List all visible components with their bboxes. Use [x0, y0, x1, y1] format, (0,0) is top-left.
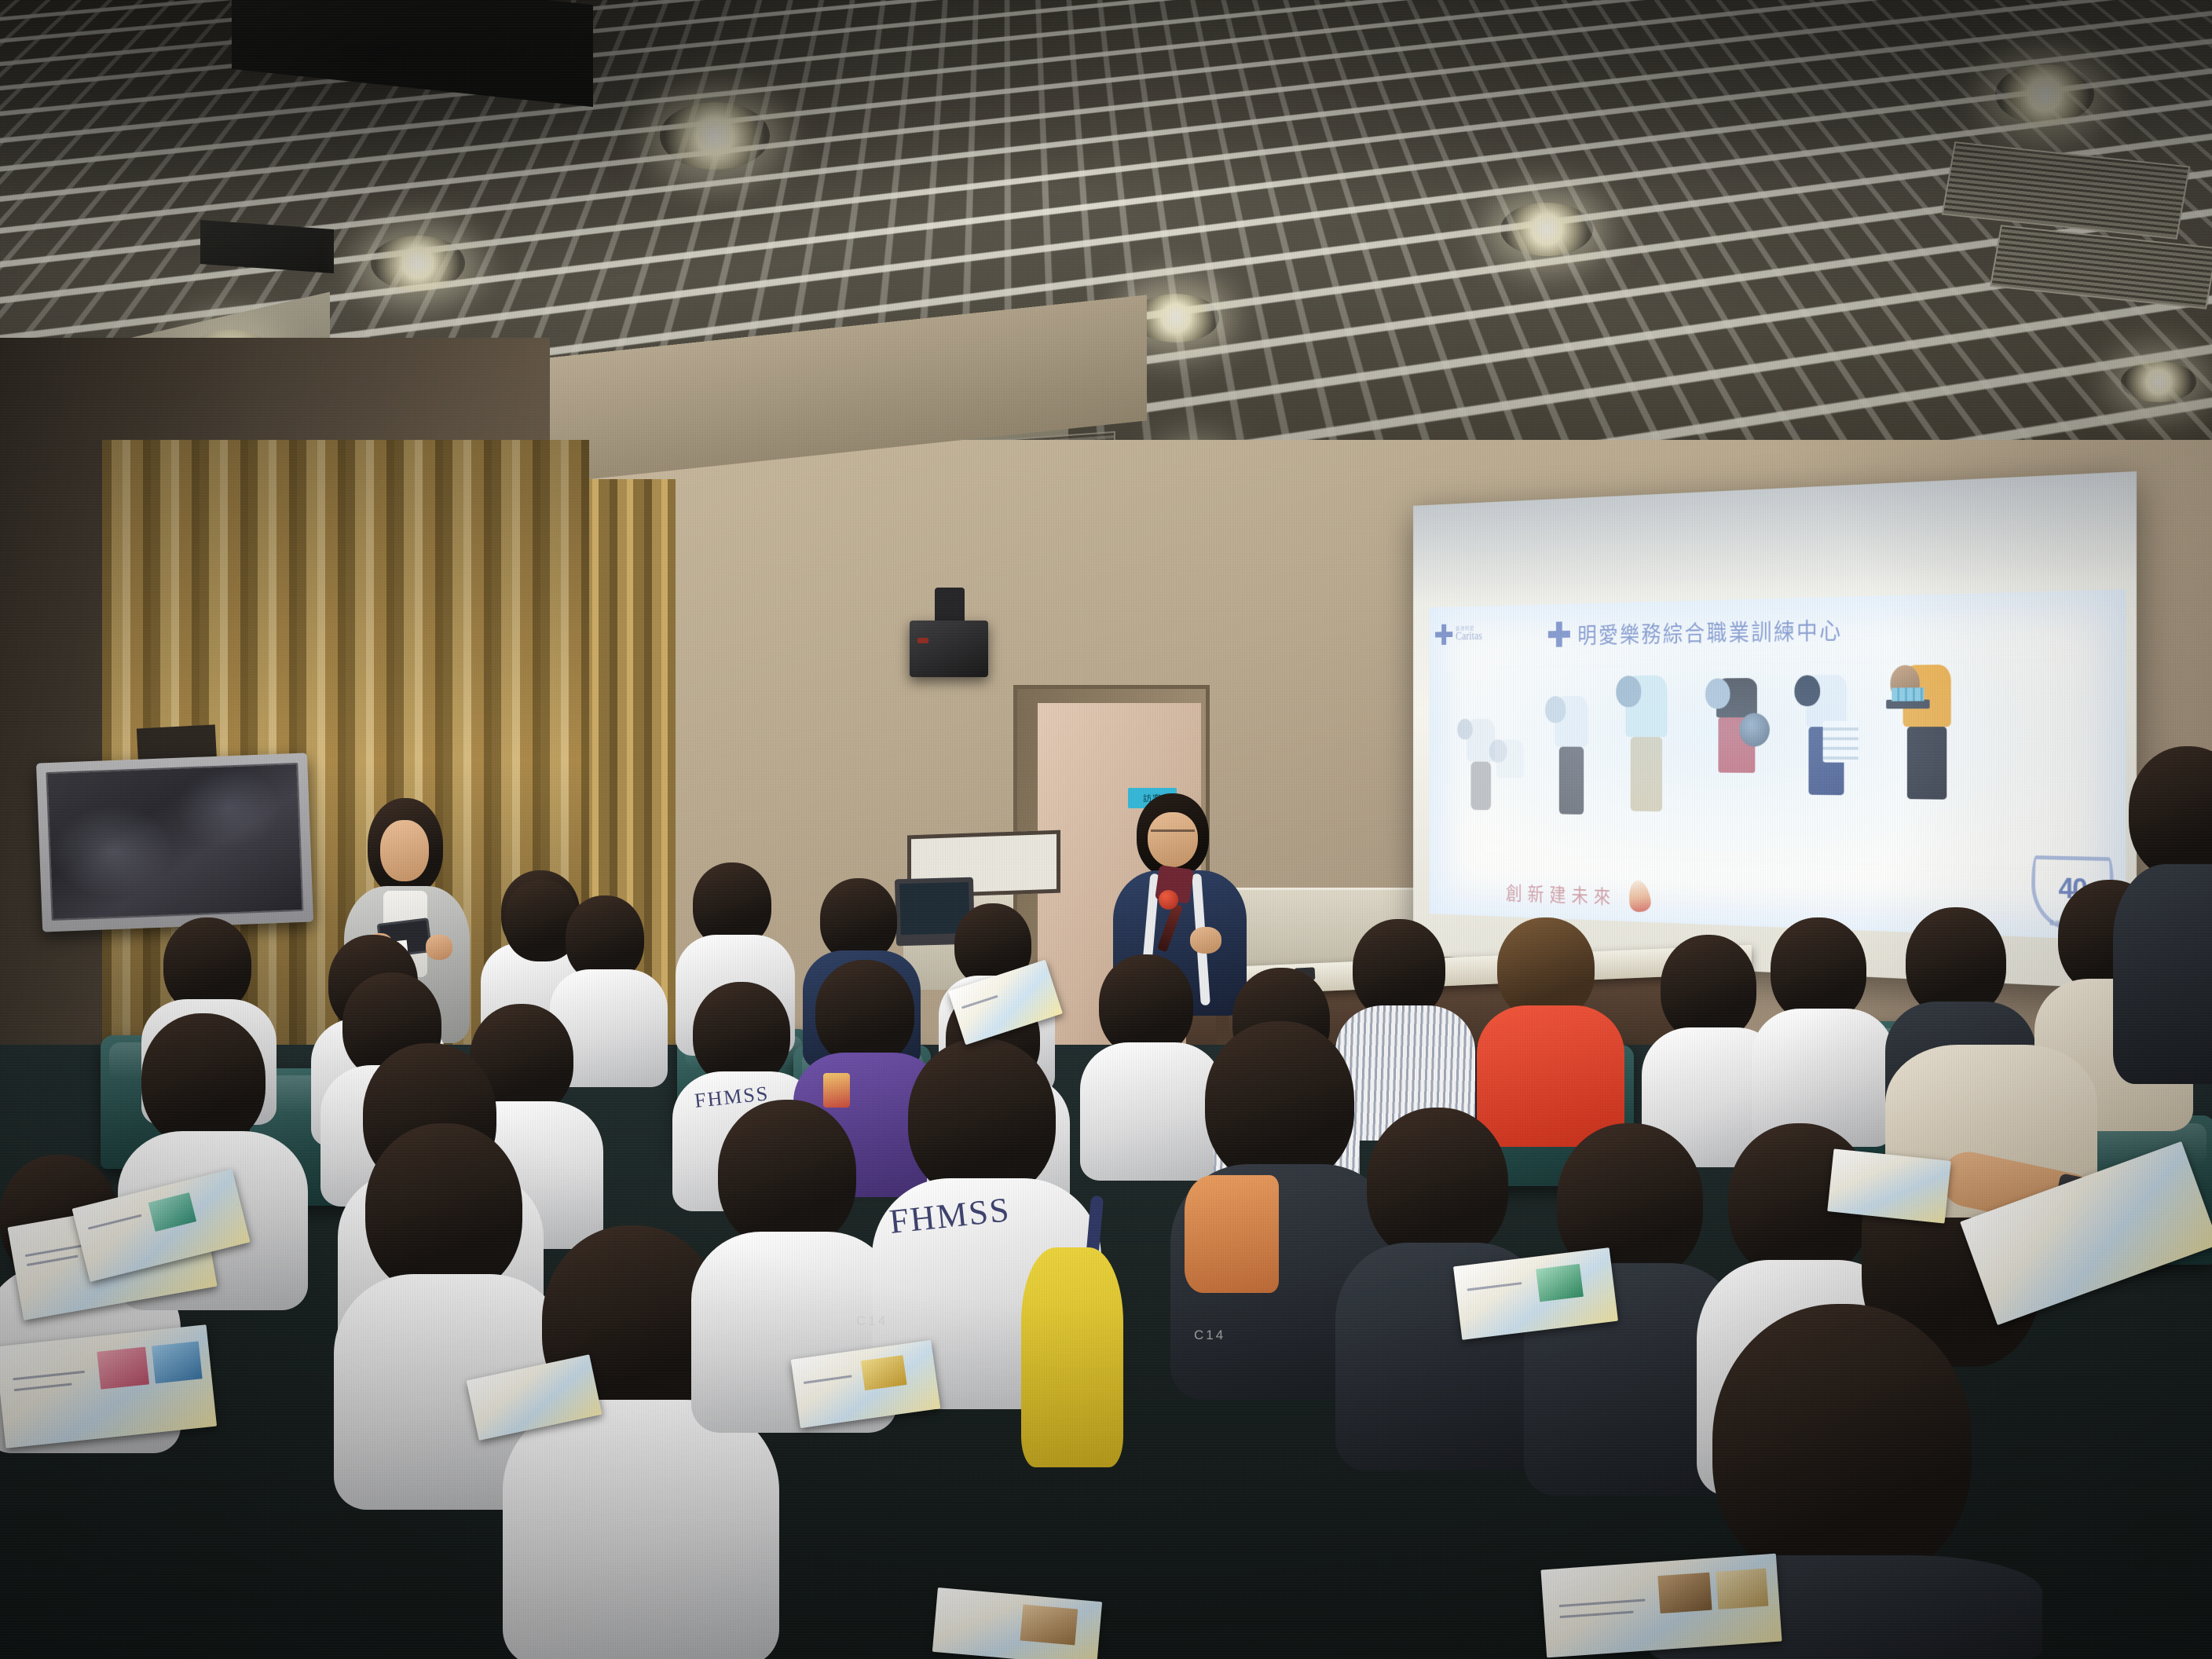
head: [1661, 935, 1756, 1042]
head: [1497, 917, 1595, 1020]
head: [718, 1100, 856, 1249]
orange-scarf: [1185, 1175, 1279, 1293]
caritas-latin-name: Caritas: [1456, 630, 1482, 643]
head: [141, 1013, 266, 1147]
brochure-line: [13, 1371, 85, 1381]
brochure-photo: [97, 1346, 149, 1389]
audience-member: [990, 1153, 1170, 1483]
brochure-photo: [861, 1355, 907, 1390]
presenter-glasses: [1151, 829, 1195, 837]
head: [1367, 1108, 1508, 1262]
speaker-bracket: [935, 588, 965, 624]
audience-member: [2121, 746, 2212, 1076]
slide-figure: [1616, 676, 1676, 848]
slide-figure: [1705, 678, 1768, 850]
caritas-logo: 香港明愛 Caritas: [1435, 615, 1500, 652]
slide-figure: [1545, 696, 1598, 846]
head: [365, 1123, 522, 1296]
speaker-led: [917, 638, 928, 643]
brochure-line: [27, 1255, 79, 1266]
head: [1205, 1021, 1354, 1185]
head: [1771, 917, 1866, 1023]
brochure-photo: [1657, 1573, 1712, 1613]
brochure-photo: [1020, 1605, 1078, 1646]
brochure-line: [961, 995, 998, 1009]
audience-member: [1477, 917, 1622, 1133]
brochure-line: [1467, 1282, 1522, 1291]
photographer-face: [380, 820, 429, 881]
head: [1353, 919, 1445, 1020]
slide-title-row: 明愛樂務綜合職業訓練中心: [1548, 612, 1843, 650]
head: [2129, 746, 2212, 880]
head: [1712, 1304, 1972, 1587]
brochure-photo: [1536, 1264, 1584, 1302]
slide-figure: [1457, 719, 1504, 844]
uniform-top: [503, 1400, 779, 1659]
brochure-photo: [152, 1341, 203, 1383]
head: [693, 982, 790, 1086]
brochure-line: [14, 1383, 72, 1392]
brochure[interactable]: [1827, 1148, 1951, 1223]
caritas-cross-icon: [1548, 621, 1570, 647]
head: [1906, 907, 2006, 1017]
yellow-sleeve: [1021, 1247, 1123, 1467]
caritas-chinese-name: 香港明愛: [1456, 626, 1482, 632]
slide-figure-row: [1452, 658, 2111, 858]
dark-top: [2113, 864, 2212, 1084]
brochure-line: [804, 1375, 852, 1384]
caritas-cross-icon: [1435, 624, 1452, 645]
slide-figure: [1489, 739, 1531, 844]
flame-icon: [1627, 879, 1653, 914]
presenter-hand: [1190, 927, 1221, 954]
head: [820, 878, 897, 961]
presenter-face: [1148, 812, 1198, 867]
tv-screen: [46, 763, 303, 921]
slide-tagline: 創新建未來: [1506, 878, 1616, 910]
wall-speaker: [910, 621, 988, 677]
brochure-photo: [148, 1192, 197, 1232]
brochure-line: [88, 1214, 142, 1230]
projected-slide: 香港明愛 Caritas 明愛樂務綜合職業訓練中心: [1430, 589, 2126, 940]
chair-label: C14: [856, 1313, 888, 1329]
brochure-line: [25, 1243, 87, 1257]
brochure-photo: [1716, 1569, 1768, 1610]
photo-scene: 訪客 香港明愛 Caritas 明愛樂務綜合職業訓練中心: [0, 0, 2212, 1659]
brochure-line: [1560, 1611, 1634, 1619]
microphone-head: [1159, 890, 1178, 910]
brochure[interactable]: [1540, 1554, 1782, 1658]
slide-figure: [1890, 665, 1964, 855]
chair-label: C14: [1194, 1328, 1225, 1343]
slide-title: 明愛樂務綜合職業訓練中心: [1577, 612, 1842, 650]
wall-mounted-tv: [36, 753, 313, 932]
brochure-line: [1559, 1599, 1646, 1607]
slide-figure: [1794, 675, 1858, 852]
caritas-wordmark: 香港明愛 Caritas: [1456, 626, 1482, 643]
tv-screen-reflection: [48, 764, 302, 919]
